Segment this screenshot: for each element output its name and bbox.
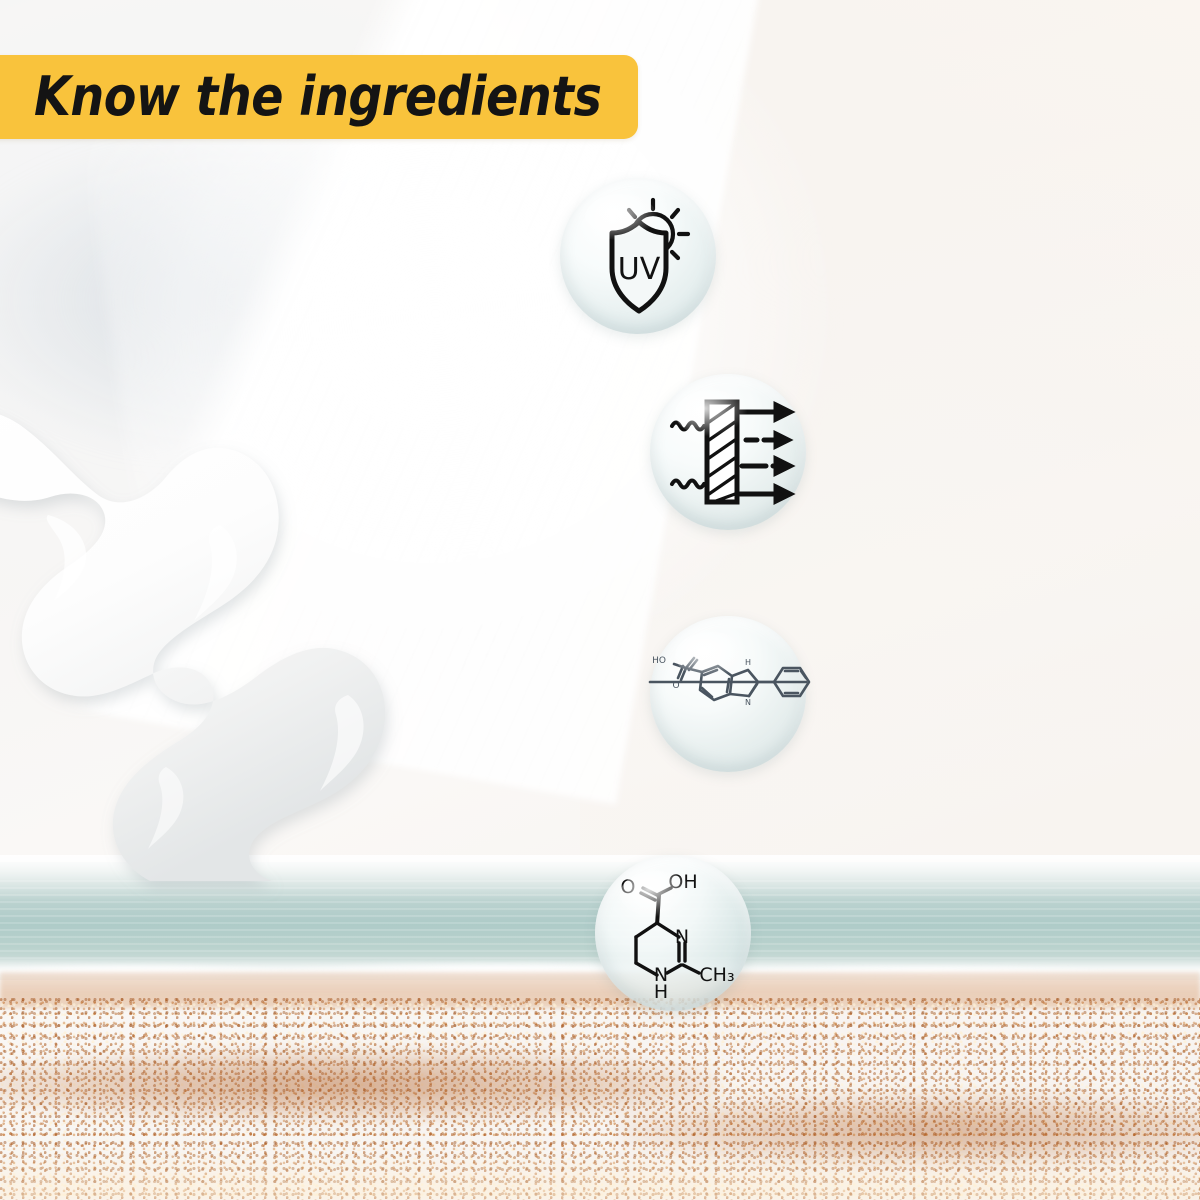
molecule-label-n: N: [675, 926, 689, 948]
ingredient-bubble-1: UV: [560, 178, 716, 334]
ingredient-bubble-3: HO O H N: [650, 616, 806, 772]
title-banner: Know the ingredients: [0, 55, 638, 139]
uv-shield-sun-icon: UV: [560, 178, 716, 334]
ingredients-infographic: Know the ingredients UV GalShield UV Car…: [0, 0, 1200, 1200]
molecule-label-o: O: [621, 876, 636, 898]
molecule-label-h-bottom: H: [654, 981, 668, 1003]
shield-uv-label: UV: [618, 252, 661, 287]
molecule-label-o: O: [672, 681, 679, 691]
ingredient-bubble-2: [650, 374, 806, 530]
sand-shadow-left: [0, 1050, 720, 1120]
molecule-label-oh: OH: [668, 871, 697, 893]
molecule-label-n: N: [745, 698, 751, 707]
cream-swatch: [0, 395, 570, 875]
ingredient-bubble-4: O OH N N H CH₃: [595, 855, 751, 1011]
page-title: Know the ingredients: [34, 70, 601, 124]
molecule-label-nh: H: [745, 658, 751, 667]
molecule-label-ch3: CH₃: [699, 964, 734, 986]
sand-highlight-bottom: [0, 1150, 1200, 1200]
neo-heliopan-molecule-icon: HO O H N: [650, 616, 806, 772]
ectoin-molecule-icon: O OH N N H CH₃: [595, 855, 751, 1011]
uv-ir-filter-barrier-icon: [650, 374, 806, 530]
molecule-label-ho: HO: [652, 656, 666, 666]
